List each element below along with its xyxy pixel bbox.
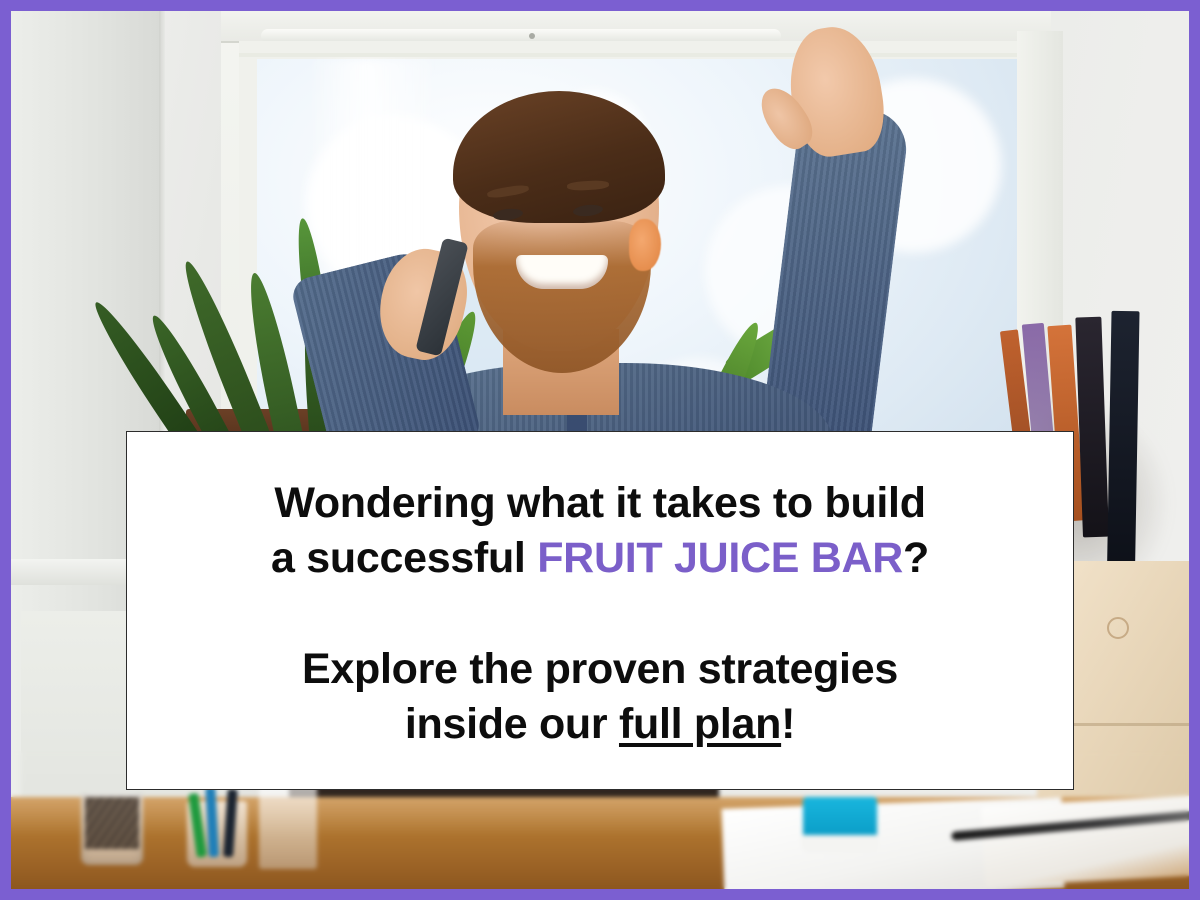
- subheadline-line-2-suffix: !: [781, 700, 795, 748]
- full-plan-link[interactable]: full plan: [619, 700, 781, 748]
- cabinet-knob: [1107, 617, 1129, 639]
- message-card: Wondering what it takes to build a succe…: [126, 431, 1074, 790]
- cyan-paper-cup: [803, 797, 877, 839]
- smile: [516, 255, 608, 289]
- fruit-juice-bar-highlight: FRUIT JUICE BAR: [537, 534, 903, 582]
- subheadline-line-2-prefix: inside our: [405, 700, 619, 748]
- headline-line-1: Wondering what it takes to build: [127, 476, 1073, 531]
- subheadline-block: Explore the proven strategies inside our…: [127, 642, 1073, 752]
- window-mullion: [239, 53, 1039, 57]
- notebook: [981, 795, 1189, 886]
- promo-slide: Wondering what it takes to build a succe…: [0, 0, 1200, 900]
- headline-line-2: a successful FRUIT JUICE BAR?: [127, 531, 1073, 586]
- headline-line-1-text: Wondering what it takes to build: [274, 479, 925, 527]
- headline-block: Wondering what it takes to build a succe…: [127, 476, 1073, 586]
- book-spine: [1107, 311, 1140, 571]
- tall-glass: [259, 785, 317, 869]
- headline-line-2-suffix: ?: [903, 534, 929, 582]
- window-screw-icon: [529, 33, 535, 39]
- headline-line-2-prefix: a successful: [271, 534, 537, 582]
- subheadline-line-1-text: Explore the proven strategies: [302, 645, 898, 693]
- coffee-beans: [85, 797, 139, 849]
- subheadline-line-1: Explore the proven strategies: [127, 642, 1073, 697]
- cup-base: [801, 835, 879, 853]
- subheadline-line-2: inside our full plan!: [127, 697, 1073, 752]
